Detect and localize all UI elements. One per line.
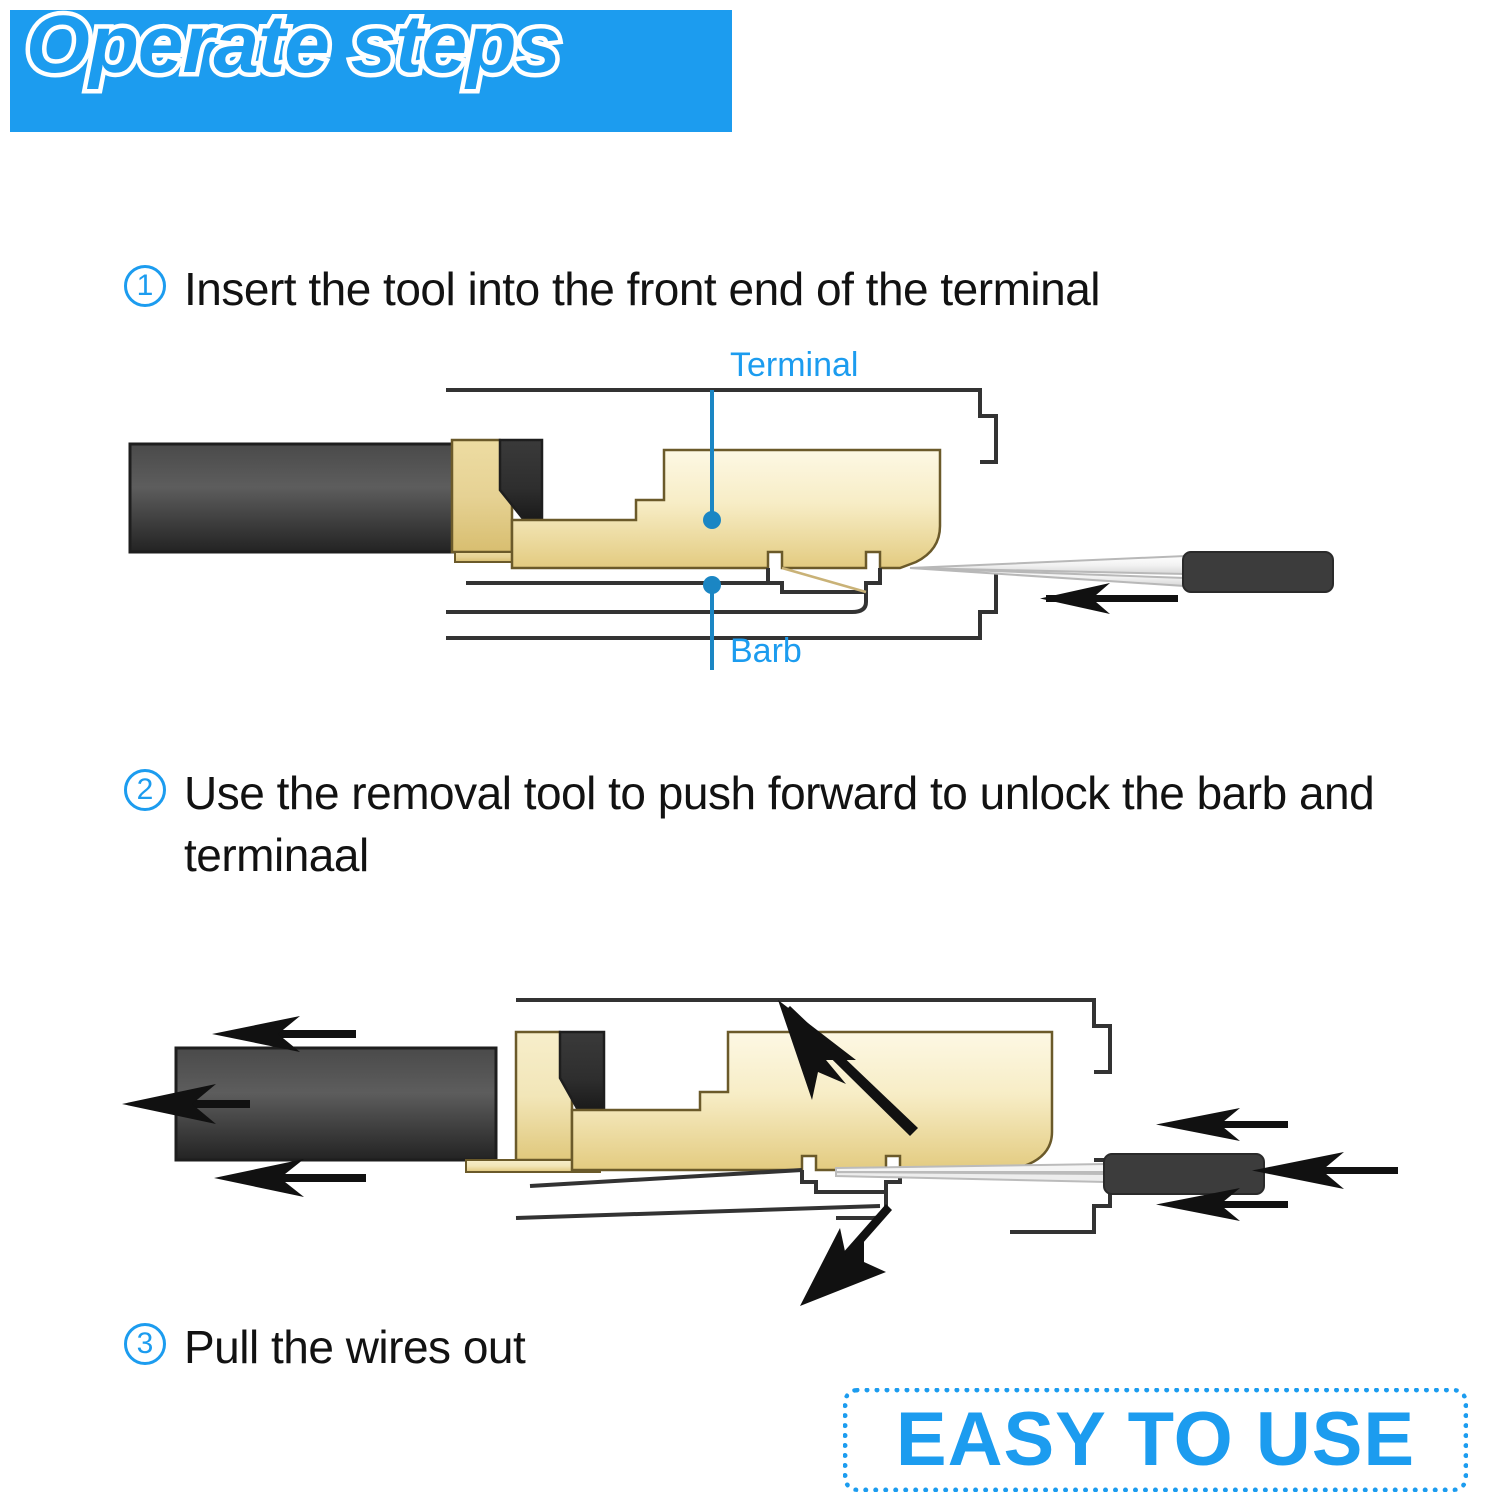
- barb-latch: [446, 568, 880, 612]
- push-arrow-left: [1040, 583, 1178, 614]
- terminal-leader-dot: [703, 511, 721, 529]
- removal-tool-handle: [1183, 552, 1333, 592]
- removal-tool-needle: [910, 556, 1185, 586]
- barb-shade-line: [782, 568, 866, 592]
- wire-insulation: [130, 444, 460, 552]
- diagram-step-1: Terminal Barb: [0, 340, 1400, 700]
- barb-leader-dot: [703, 576, 721, 594]
- push-arrow-middle-right: [1252, 1152, 1398, 1189]
- terminal-label: Terminal: [730, 346, 858, 384]
- barb-label: Barb: [730, 632, 802, 670]
- easy-to-use-label: EASY TO USE: [896, 1402, 1415, 1478]
- easy-to-use-badge: EASY TO USE: [843, 1388, 1468, 1492]
- diagram-step-2: [0, 960, 1420, 1320]
- removal-tool-needle-2: [836, 1164, 1106, 1182]
- push-arrow-upper-right: [1156, 1108, 1288, 1141]
- step-3-number: 3: [124, 1323, 166, 1365]
- step-1-number: 1: [124, 265, 166, 307]
- step-2: 2 Use the removal tool to push forward t…: [124, 762, 1384, 886]
- step-3-text: Pull the wires out: [184, 1316, 525, 1378]
- pull-arrow-lower-left: [214, 1159, 366, 1197]
- step-2-number: 2: [124, 769, 166, 811]
- step-2-text: Use the removal tool to push forward to …: [184, 762, 1384, 886]
- terminal-body: [512, 450, 940, 568]
- page-title: Operate steps: [26, 2, 560, 88]
- step-3: 3 Pull the wires out: [124, 1316, 1024, 1378]
- step-1: 1 Insert the tool into the front end of …: [124, 258, 1424, 320]
- barb-latch-2: [516, 1170, 900, 1218]
- step-1-text: Insert the tool into the front end of th…: [184, 258, 1100, 320]
